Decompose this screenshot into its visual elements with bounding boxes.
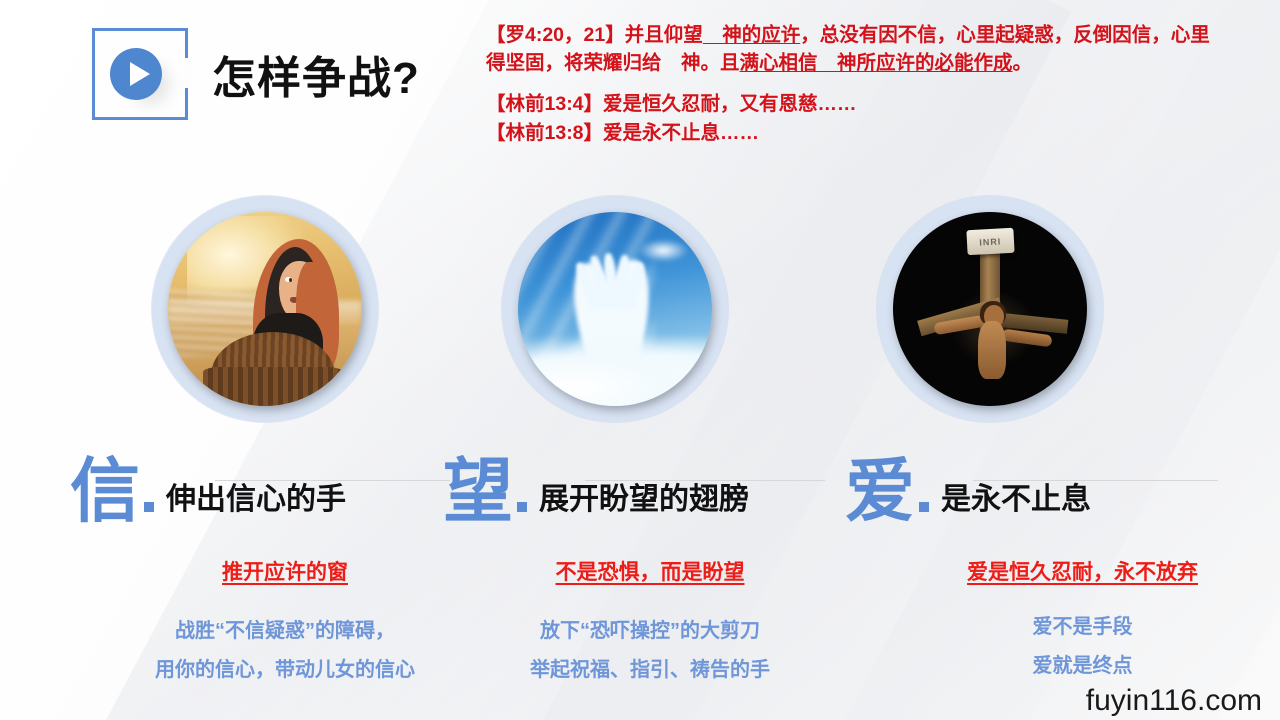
play-circle (110, 48, 162, 100)
body-column-love: 爱是恒久忍耐，永不放弃 爱不是手段 爱就是终点 (895, 556, 1270, 686)
verse-corinthians-13-8: 【林前13:8】爱是永不止息…… (486, 119, 1226, 147)
inri-sign-text: INRI (966, 228, 1014, 256)
verse-corinthians-group: 【林前13:4】爱是恒久忍耐，又有恩慈…… 【林前13:8】爱是永不止息…… (486, 90, 1226, 147)
play-triangle-icon (130, 62, 150, 86)
blue-line: 战胜“不信疑惑”的障碍， (85, 612, 485, 651)
heading-column-hope: 望 展开盼望的翅膀 (443, 452, 823, 525)
heading-subtitle-love: 是永不止息 (941, 474, 1091, 518)
blue-line: 放下“恐吓操控”的大剪刀 (460, 612, 840, 651)
blue-line: 用你的信心，带动儿女的信心 (85, 651, 485, 690)
square-bullet-icon (919, 502, 929, 512)
photo-ring-faith (152, 196, 378, 422)
photo-row: INRI (0, 196, 1280, 426)
heading-column-faith: 信 伸出信心的手 (70, 452, 450, 525)
blue-line: 举起祝福、指引、祷告的手 (460, 651, 840, 690)
blue-line: 爱不是手段 (895, 608, 1270, 647)
big-char-love: 爱 (845, 458, 915, 525)
blue-text-hope: 放下“恐吓操控”的大剪刀 举起祝福、指引、祷告的手 (460, 612, 840, 690)
basket-base (203, 367, 343, 406)
blue-line: 爱就是终点 (895, 647, 1270, 686)
torso (978, 321, 1005, 379)
photo-ring-love: INRI (877, 196, 1103, 422)
red-headline-hope: 不是恐惧，而是盼望 (460, 556, 840, 586)
praying-hands-clouds-photo (518, 212, 712, 406)
inri-sign: INRI (966, 228, 1014, 256)
cloud-wisp (638, 239, 688, 262)
slide-header: 怎样争战? (92, 28, 420, 120)
red-headline-love: 爱是恒久忍耐，永不放弃 (895, 556, 1270, 586)
blue-text-love: 爱不是手段 爱就是终点 (895, 608, 1270, 686)
red-headline-faith: 推开应许的窗 (85, 556, 485, 586)
photo-art-woman (168, 212, 362, 406)
verse-corinthians-13-4: 【林前13:4】爱是恒久忍耐，又有恩慈…… (486, 90, 1226, 118)
heading-column-love: 爱 是永不止息 (845, 452, 1245, 525)
body-column-faith: 推开应许的窗 战胜“不信疑惑”的障碍， 用你的信心，带动儿女的信心 (85, 556, 485, 690)
slide-canvas: 怎样争战? 【罗4:20，21】并且仰望 神的应许，总没有因不信，心里起疑惑，反… (0, 0, 1280, 720)
heading-line: 信 伸出信心的手 (70, 452, 450, 525)
verse-romans: 【罗4:20，21】并且仰望 神的应许，总没有因不信，心里起疑惑，反倒因信，心里… (486, 22, 1226, 77)
verse-romans-underline1: 神的应许 (703, 24, 801, 46)
crucifixion-photo: INRI (893, 212, 1087, 406)
big-char-hope: 望 (443, 458, 513, 525)
heading-line: 爱 是永不止息 (845, 452, 1245, 525)
blue-text-faith: 战胜“不信疑惑”的障碍， 用你的信心，带动儿女的信心 (85, 612, 485, 690)
heading-subtitle-faith: 伸出信心的手 (166, 474, 346, 518)
photo-ring-hope (502, 196, 728, 422)
woman-with-basket-photo (168, 212, 362, 406)
cloud-bank (518, 336, 712, 406)
icon-frame-gap (183, 58, 192, 88)
square-bullet-icon (144, 502, 154, 512)
scripture-block: 【罗4:20，21】并且仰望 神的应许，总没有因不信，心里起疑惑，反倒因信，心里… (486, 22, 1226, 147)
square-bullet-icon (517, 502, 527, 512)
photo-art-crucifixion: INRI (893, 212, 1087, 406)
verse-romans-underline2: 满心相信 神所应许的必能作成 (740, 52, 1013, 74)
verse-romans-part3: 。 (1013, 52, 1033, 74)
verse-romans-part1: 并且仰望 (625, 24, 703, 46)
verse-romans-ref: 【罗4:20，21】 (486, 24, 625, 46)
photo-art-sky (518, 212, 712, 406)
body-column-hope: 不是恐惧，而是盼望 放下“恐吓操控”的大剪刀 举起祝福、指引、祷告的手 (460, 556, 840, 690)
page-title: 怎样争战? (212, 42, 420, 106)
big-char-faith: 信 (70, 458, 140, 525)
site-watermark: fuyin116.com (1086, 684, 1262, 718)
heading-subtitle-hope: 展开盼望的翅膀 (539, 474, 749, 518)
play-button-icon (92, 28, 188, 120)
heading-line: 望 展开盼望的翅膀 (443, 452, 823, 525)
